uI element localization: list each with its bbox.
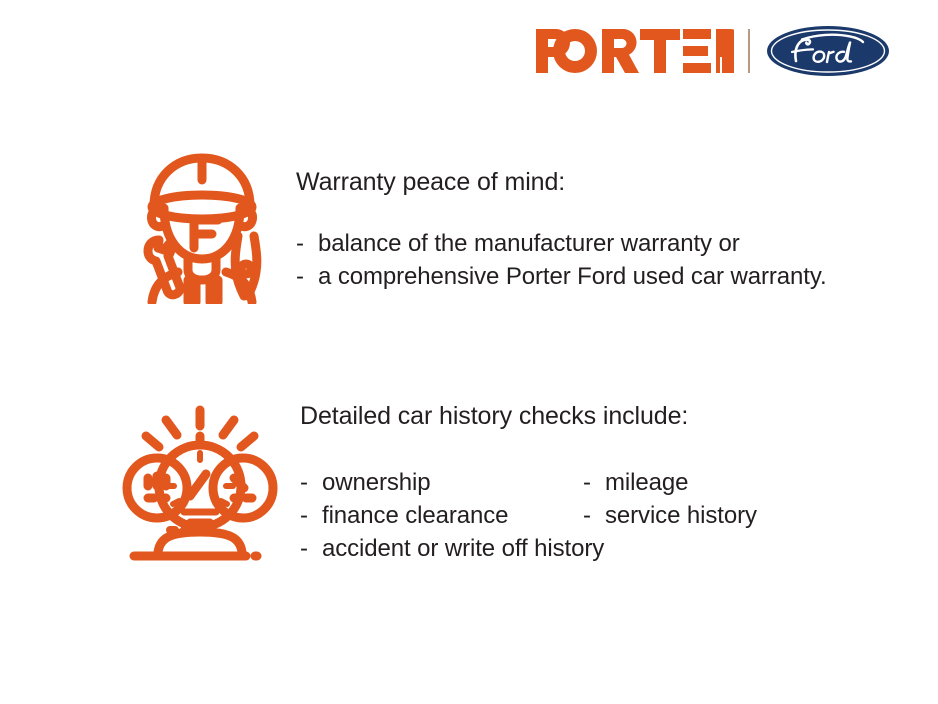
bullet-text: ownership (322, 469, 431, 497)
list-item: - finance clearance - service history (300, 502, 757, 530)
ford-oval-logo (766, 25, 890, 77)
warranty-heading: Warranty peace of mind: (296, 168, 827, 197)
bullet-text: balance of the manufacturer warranty or (318, 230, 740, 258)
history-checks-section: Detailed car history checks include: - o… (110, 392, 757, 572)
bullet-dash: - (300, 535, 322, 563)
bullet-dash: - (300, 502, 322, 530)
list-item: - ownership - mileage (300, 469, 757, 497)
bullet-text: finance clearance (322, 502, 508, 530)
bullet-text: accident or write off history (322, 535, 604, 563)
bullet-dash: - (296, 230, 318, 258)
history-text-block: Detailed car history checks include: - o… (300, 392, 757, 568)
bullet-dash: - (296, 263, 318, 291)
porter-logotype-svg (536, 29, 734, 73)
warranty-bullet-list: - balance of the manufacturer warranty o… (296, 230, 827, 291)
brand-divider (748, 29, 750, 73)
warranty-text-block: Warranty peace of mind: - balance of the… (296, 144, 827, 296)
history-bullet-list: - ownership - mileage - finance clearanc… (300, 469, 757, 563)
list-item: - balance of the manufacturer warranty o… (296, 230, 827, 258)
list-item: - accident or write off history (300, 535, 757, 563)
dashboard-gauges-icon (110, 392, 290, 572)
bullet-dash: - (300, 469, 322, 497)
bullet-text: service history (605, 502, 757, 530)
brand-lockup (536, 22, 890, 80)
mechanic-icon (118, 144, 286, 304)
list-item: - a comprehensive Porter Ford used car w… (296, 263, 827, 291)
bullet-text: a comprehensive Porter Ford used car war… (318, 263, 827, 291)
history-heading: Detailed car history checks include: (300, 402, 757, 431)
bullet-dash: - (583, 469, 605, 497)
bullet-dash: - (583, 502, 605, 530)
bullet-text: mileage (605, 469, 688, 497)
warranty-section: Warranty peace of mind: - balance of the… (118, 144, 827, 304)
porter-wordmark (536, 22, 734, 80)
